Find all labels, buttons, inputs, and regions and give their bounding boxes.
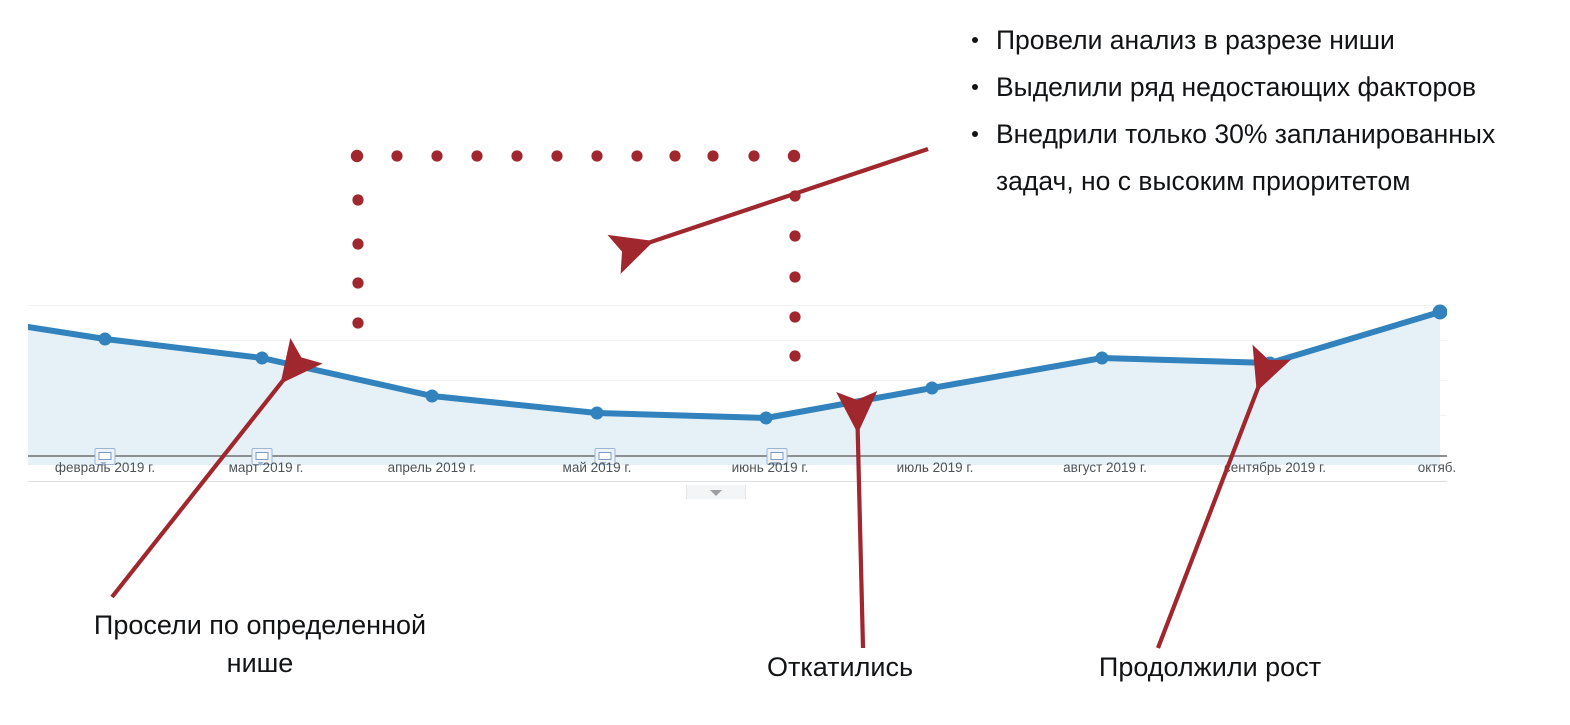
axis-tick-label: август 2019 г. xyxy=(1063,460,1147,475)
bullet-item: Внедрили только 30% запланированных xyxy=(966,118,1556,151)
bullet-item: Провели анализ в разрезе ниши xyxy=(966,24,1556,57)
chart-marker[interactable] xyxy=(426,390,439,403)
bullet-continuation: задач, но с высоким приоритетом xyxy=(966,165,1556,198)
axis-tick-label: июль 2019 г. xyxy=(897,460,974,475)
slide-root: февраль 2019 г. март 2019 г. апрель 2019… xyxy=(0,0,1570,725)
bullet-dot-icon xyxy=(972,131,978,137)
axis-tick-label: февраль 2019 г. xyxy=(55,460,155,475)
axis-tick-label: сентябрь 2019 г. xyxy=(1224,460,1326,475)
bullet-text: Провели анализ в разрезе ниши xyxy=(996,25,1395,55)
x-axis-labels: февраль 2019 г. март 2019 г. апрель 2019… xyxy=(0,457,1570,481)
chart-marker[interactable] xyxy=(591,407,604,420)
chart-marker[interactable] xyxy=(256,352,269,365)
chart-plot-area xyxy=(28,295,1447,455)
chart-marker[interactable] xyxy=(1433,305,1448,320)
chart-marker[interactable] xyxy=(926,382,939,395)
axis-tick-label: март 2019 г. xyxy=(229,460,304,475)
axis-tick-label: апрель 2019 г. xyxy=(388,460,477,475)
chart-area-fill xyxy=(28,312,1440,465)
chart-marker[interactable] xyxy=(1096,352,1109,365)
bullet-dot-icon xyxy=(972,37,978,43)
chart-marker[interactable] xyxy=(760,412,773,425)
axis-tick-label: май 2019 г. xyxy=(563,460,632,475)
arrow-to-highlight-box xyxy=(624,149,928,251)
traffic-chart: февраль 2019 г. март 2019 г. апрель 2019… xyxy=(0,285,1570,500)
axis-tick-label: октяб. xyxy=(1418,460,1457,475)
caret-down-icon[interactable] xyxy=(686,485,746,499)
bullet-item: Выделили ряд недостающих факторов xyxy=(966,71,1556,104)
chart-marker[interactable] xyxy=(99,333,112,346)
annotation-niche-dip: Просели по определенной нише xyxy=(40,606,480,682)
annotation-growth: Продолжили рост xyxy=(1020,648,1400,686)
bullet-text: Внедрили только 30% запланированных xyxy=(996,119,1495,149)
bullet-text: Выделили ряд недостающих факторов xyxy=(996,72,1476,102)
bullet-dot-icon xyxy=(972,84,978,90)
chart-marker[interactable] xyxy=(1264,357,1277,370)
chart-series-svg xyxy=(28,295,1447,465)
axis-tick-label: июнь 2019 г. xyxy=(732,460,809,475)
axis-bottom-rule xyxy=(28,481,1447,482)
annotation-rollback: Откатились xyxy=(700,648,980,686)
bullet-list: Провели анализ в разрезе ниши Выделили р… xyxy=(966,24,1556,198)
